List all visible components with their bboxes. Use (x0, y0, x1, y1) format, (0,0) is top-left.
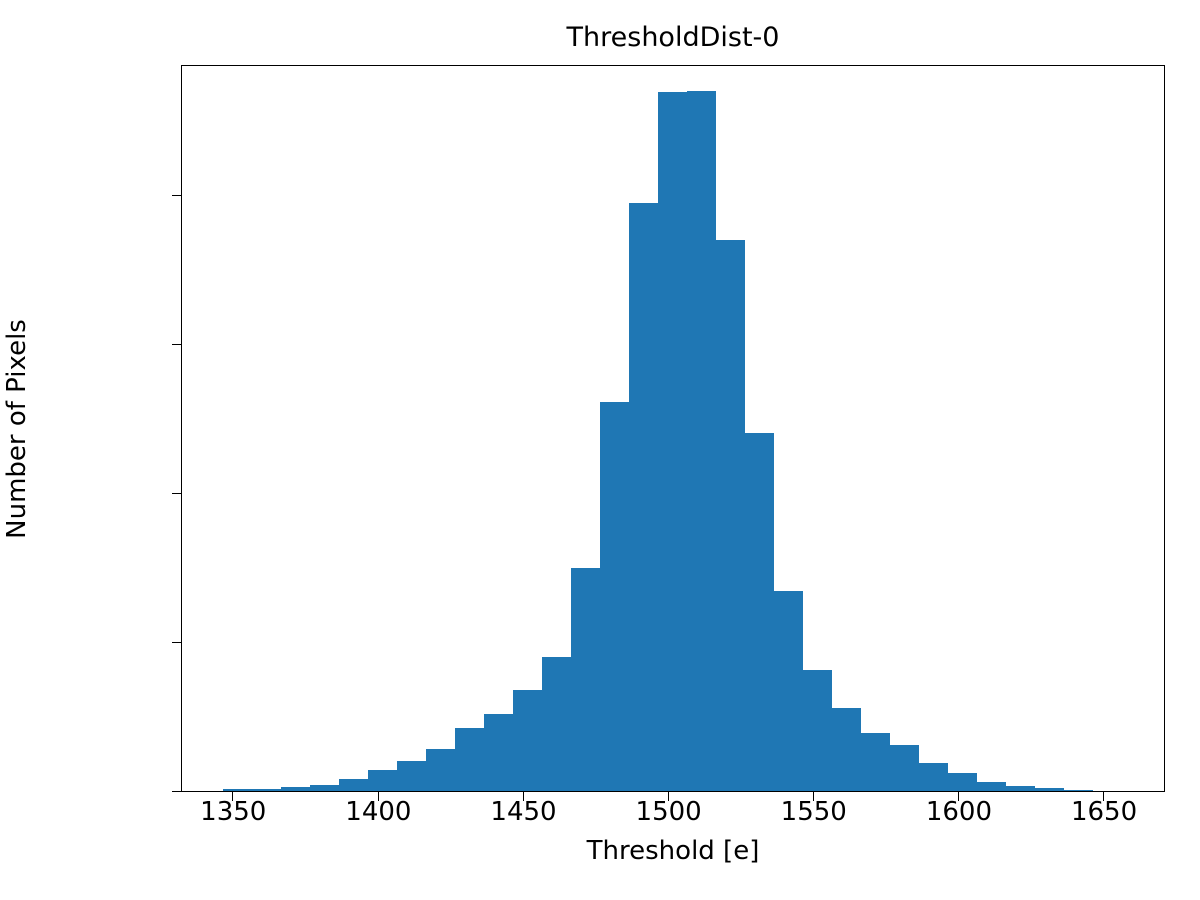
histogram-bar (1064, 790, 1093, 791)
histogram-bar (281, 787, 310, 791)
y-axis-tick (172, 791, 181, 792)
x-axis-tick (378, 792, 379, 801)
histogram-bar (339, 779, 368, 791)
histogram-bar (252, 789, 281, 791)
histogram-bar (948, 773, 977, 791)
x-tick-labels: 1350140014501500155016001650 (181, 797, 1165, 833)
y-axis-label-text: Number of Pixels (4, 319, 30, 539)
histogram-bar (368, 770, 397, 791)
x-axis-tick (958, 792, 959, 801)
histogram-bar (223, 789, 252, 791)
histogram-bar (513, 690, 542, 791)
x-tick-label: 1450 (490, 797, 556, 827)
x-tick-label: 1350 (200, 797, 266, 827)
histogram-bar (832, 708, 861, 791)
histogram-bar (1006, 786, 1035, 791)
histogram-bar (919, 763, 948, 791)
histogram-bars (182, 66, 1164, 791)
histogram-bar (484, 714, 513, 791)
figure-canvas: ThresholdDist-0 Number of Pixels 0500010… (0, 0, 1200, 900)
histogram-bar (1035, 788, 1064, 791)
chart-title: ThresholdDist-0 (181, 22, 1165, 54)
histogram-bar (455, 728, 484, 791)
histogram-bar (977, 782, 1006, 791)
histogram-bar (745, 433, 774, 791)
histogram-bar (716, 240, 745, 791)
histogram-bar (658, 92, 687, 791)
x-axis-tick (668, 792, 669, 801)
x-axis-tick (523, 792, 524, 801)
histogram-bar (774, 591, 803, 791)
x-axis-tick (813, 792, 814, 801)
y-axis-tick (172, 344, 181, 345)
x-tick-label: 1500 (636, 797, 702, 827)
histogram-bar (310, 785, 339, 791)
histogram-bar (397, 761, 426, 791)
x-axis-label: Threshold [e] (181, 836, 1165, 866)
histogram-bar (629, 203, 658, 791)
x-tick-label: 1550 (781, 797, 847, 827)
x-tick-label: 1400 (345, 797, 411, 827)
x-tick-label: 1650 (1071, 797, 1137, 827)
histogram-bar (571, 568, 600, 791)
x-tick-label: 1600 (926, 797, 992, 827)
histogram-bar (426, 749, 455, 791)
histogram-bar (890, 745, 919, 791)
y-axis-tick (172, 493, 181, 494)
histogram-bar (542, 657, 571, 791)
plot-area (181, 65, 1165, 792)
x-axis-tick (232, 792, 233, 801)
histogram-bar (803, 670, 832, 791)
histogram-bar (861, 733, 890, 791)
y-axis-tick (172, 642, 181, 643)
y-axis-tick (172, 195, 181, 196)
y-axis-label: Number of Pixels (0, 65, 34, 792)
histogram-bar (687, 91, 716, 791)
x-axis-tick (1103, 792, 1104, 801)
histogram-bar (600, 402, 629, 791)
